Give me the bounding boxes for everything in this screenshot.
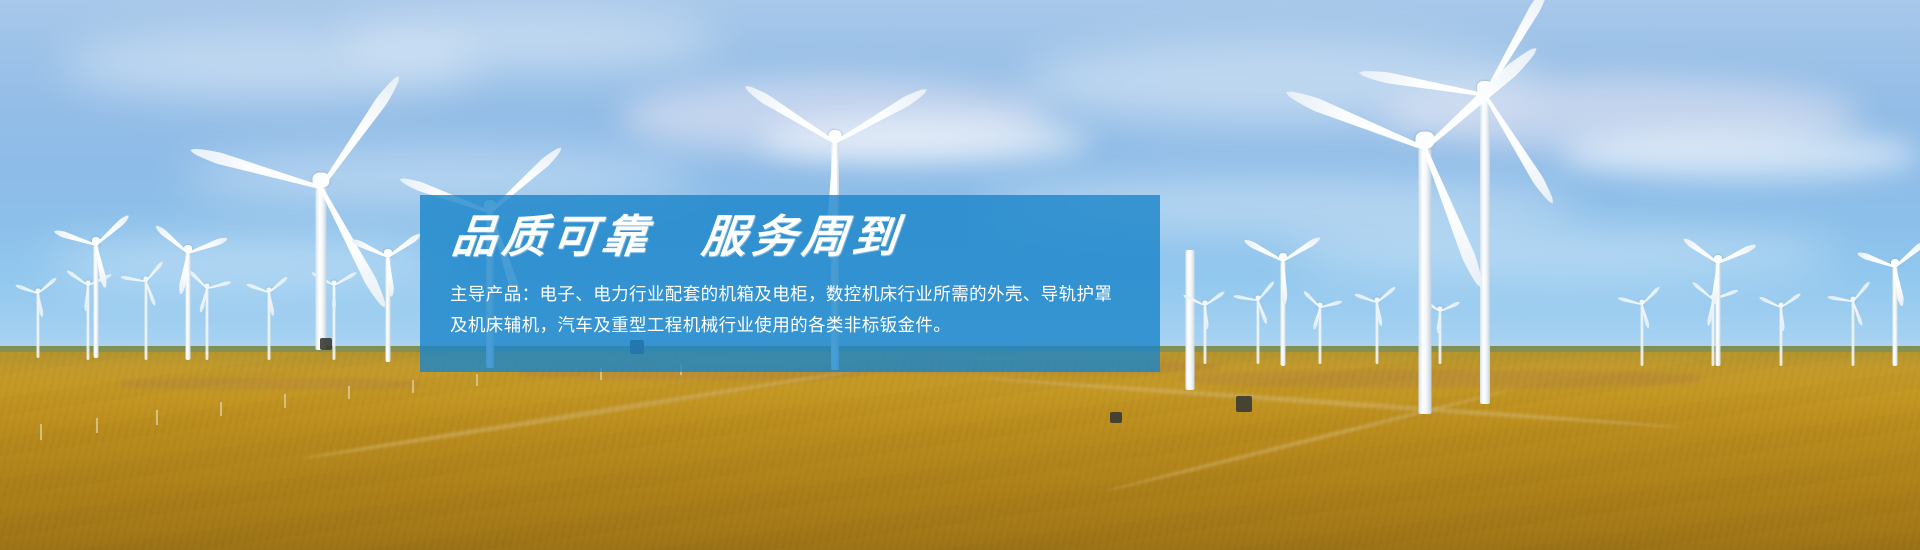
mid-turbine xyxy=(1244,244,1322,366)
foreground-turbine-right-front xyxy=(1330,124,1520,414)
distant-turbine xyxy=(18,282,58,358)
distant-turbine xyxy=(1760,296,1802,366)
turbine-base-box xyxy=(1110,412,1122,423)
fence-post xyxy=(156,410,158,425)
fence-post xyxy=(284,394,286,408)
mid-turbine xyxy=(150,236,226,360)
promo-overlay-panel: 品质可靠 服务周到 主导产品：电子、电力行业配套的机箱及电柜，数控机床行业所需的… xyxy=(420,195,1160,372)
grass-texture xyxy=(0,352,1920,550)
fence-post xyxy=(96,418,98,433)
promo-body-text: 主导产品：电子、电力行业配套的机箱及电柜，数控机床行业所需的外壳、导轨护罩 及机… xyxy=(450,279,1132,341)
promo-headline: 品质可靠 服务周到 xyxy=(449,213,904,263)
distant-turbine xyxy=(1184,294,1226,364)
wind-farm-hero-banner: 品质可靠 服务周到 主导产品：电子、电力行业配套的机箱及电柜，数控机床行业所需的… xyxy=(0,0,1920,550)
promo-body-line: 及机床辅机，汽车及重型工程机械行业使用的各类非标钣金件。 xyxy=(450,310,1132,341)
fence-post xyxy=(40,424,42,440)
mid-turbine xyxy=(1680,246,1756,366)
fence-post xyxy=(348,386,350,399)
mid-turbine xyxy=(56,226,136,358)
promo-body-line: 主导产品：电子、电力行业配套的机箱及电柜，数控机床行业所需的外壳、导轨护罩 xyxy=(450,279,1132,310)
distant-turbine xyxy=(1620,292,1664,366)
turbine-base-box xyxy=(1236,396,1252,412)
fence-post xyxy=(412,380,414,393)
fence-post xyxy=(220,402,222,416)
turbine-base-box xyxy=(320,338,332,350)
mid-turbine xyxy=(352,240,424,362)
fence-post xyxy=(476,374,478,386)
mid-turbine xyxy=(1860,250,1920,366)
